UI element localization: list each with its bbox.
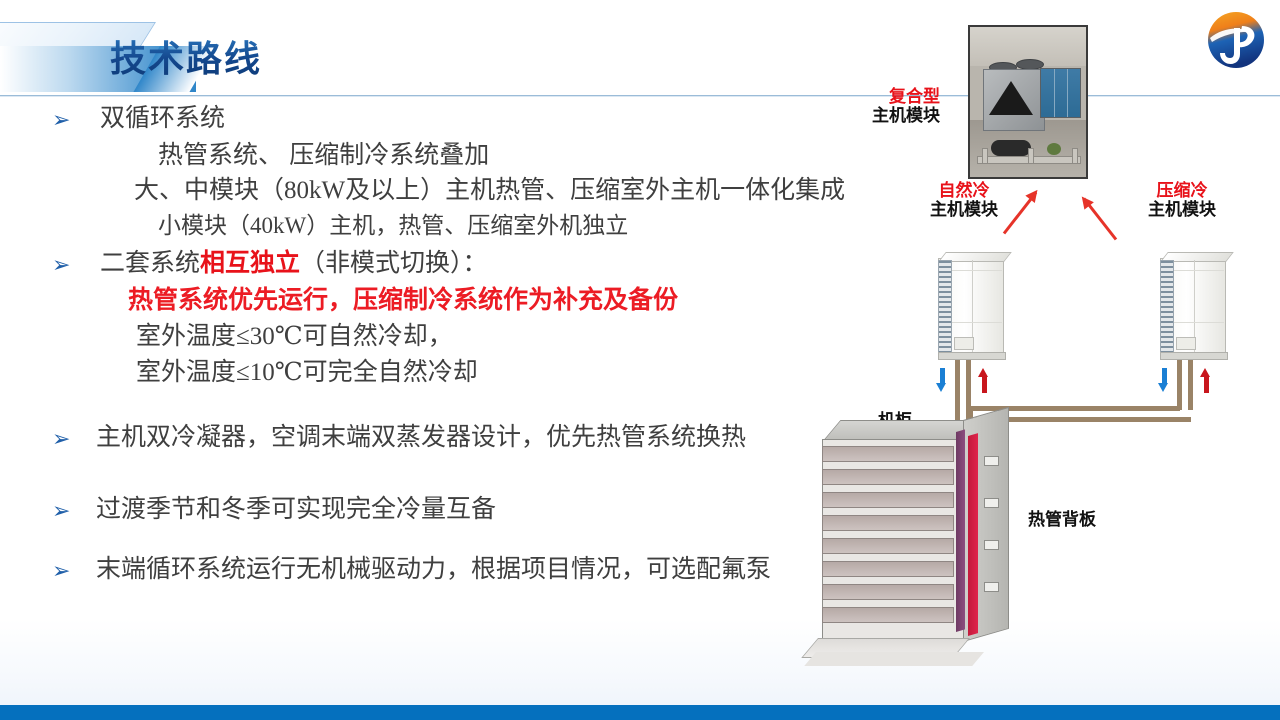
label-natural-top: 自然冷 <box>930 182 998 201</box>
slide-body: ➢ 双循环系统 热管系统、 压缩制冷系统叠加 大、中模块（80kW及以上）主机热… <box>0 96 840 616</box>
body-line-5-part-a: 二套系统 <box>100 250 200 277</box>
rack-side-port <box>984 456 999 466</box>
photo-coil-vee <box>989 81 1033 115</box>
body-line-11: 末端循环系统运行无机械驱动力，根据项目情况，可选配氟泵 <box>96 557 771 582</box>
label-natural-cooling-module: 自然冷 主机模块 <box>930 182 998 220</box>
body-line-8: 室外温度≤10℃可完全自然冷却 <box>136 360 478 385</box>
pipe-right-supply <box>1177 360 1182 410</box>
body-line-9: 主机双冷凝器，空调末端双蒸发器设计，优先热管系统换热 <box>96 425 746 450</box>
rack-backplate-purple <box>956 429 965 632</box>
rack-shelf <box>822 515 954 531</box>
odu-left-panel-line-2 <box>952 322 1002 323</box>
odu-left-grille <box>938 260 952 354</box>
page-title: 技术路线 <box>110 30 262 82</box>
rack-side-port <box>984 498 999 508</box>
body-line-1: 双循环系统 <box>100 106 225 131</box>
outdoor-unit-natural-cooling <box>928 252 1002 360</box>
odu-right-panel-line-2 <box>1174 322 1224 323</box>
odu-right-control-box <box>1176 337 1196 350</box>
body-line-2: 热管系统、 压缩制冷系统叠加 <box>158 143 489 168</box>
body-line-3: 大、中模块（80kW及以上）主机热管、压缩室外主机一体化集成 <box>134 178 845 203</box>
rack-floor-shadow <box>804 652 984 666</box>
body-line-7: 室外温度≤30℃可自然冷却， <box>136 324 453 349</box>
rack-backplate-red <box>968 433 978 636</box>
bullet-marker-icon-2: ➢ <box>52 253 70 278</box>
photo-blue-panels <box>1040 68 1081 118</box>
odu-right-panel-line-1 <box>1174 270 1224 271</box>
arrow-natural-to-composite-icon <box>1003 192 1037 235</box>
body-line-5-highlight: 相互独立 <box>200 250 300 277</box>
label-heatpipe-backplate: 热管背板 <box>1028 505 1096 530</box>
photo-leg-left <box>982 148 988 164</box>
outdoor-unit-compressor-cooling <box>1150 252 1224 360</box>
label-natural-bottom: 主机模块 <box>930 201 998 220</box>
body-line-6-emphasis: 热管系统优先运行，压缩制冷系统作为补充及备份 <box>128 288 678 313</box>
body-line-10: 过渡季节和冬季可实现完全冷量互备 <box>96 497 496 522</box>
bullet-marker-icon-5: ➢ <box>52 559 70 584</box>
photo-leg-mid <box>1028 148 1034 164</box>
rack-side-port <box>984 540 999 550</box>
slide-canvas: 技术路线 ➢ 双循环系统 热管系统、 压缩制冷系统叠加 大、中模块（80k <box>0 0 1280 720</box>
photo-leg-right <box>1072 148 1078 164</box>
arrow-compressor-to-composite-icon <box>1083 198 1117 241</box>
system-diagram: 复合型 主机模块 自然冷 主机模块 压缩冷 主机模块 <box>800 0 1280 705</box>
label-composite-module: 复合型 主机模块 <box>872 88 940 126</box>
odu-left-panel-line-1 <box>952 270 1002 271</box>
body-line-5-part-c: （非模式切换）： <box>300 250 488 277</box>
label-compressor-top: 压缩冷 <box>1148 182 1216 201</box>
rack-side-port <box>984 582 999 592</box>
label-composite-bottom: 主机模块 <box>872 107 940 126</box>
composite-chiller-photo <box>968 25 1088 179</box>
bullet-marker-icon-3: ➢ <box>52 427 70 452</box>
odu-right-grille <box>1160 260 1174 354</box>
bullet-marker-icon-1: ➢ <box>52 108 70 133</box>
odu-left-control-box <box>954 337 974 350</box>
odu-right-foot <box>1160 352 1228 360</box>
rack-shelf <box>822 446 954 462</box>
footer-bar <box>0 705 1280 720</box>
photo-compressor <box>991 140 1031 156</box>
label-compressor-bottom: 主机模块 <box>1148 201 1216 220</box>
odu-left-foot <box>938 352 1006 360</box>
bullet-marker-icon-4: ➢ <box>52 499 70 524</box>
rack-shelf <box>822 584 954 600</box>
rack-shelf <box>822 607 954 623</box>
body-line-4: 小模块（40kW）主机，热管、压缩室外机独立 <box>158 214 628 237</box>
rack-shelf <box>822 561 954 577</box>
label-composite-top: 复合型 <box>872 88 940 107</box>
pipe-right-return <box>1188 360 1193 410</box>
rack-shelf <box>822 492 954 508</box>
body-line-5: 二套系统相互独立（非模式切换）： <box>100 251 488 276</box>
server-rack <box>816 420 1026 670</box>
rack-shelf <box>822 538 954 554</box>
rack-shelf <box>822 469 954 485</box>
label-compressor-cooling-module: 压缩冷 主机模块 <box>1148 182 1216 220</box>
photo-vessel <box>1047 143 1061 155</box>
